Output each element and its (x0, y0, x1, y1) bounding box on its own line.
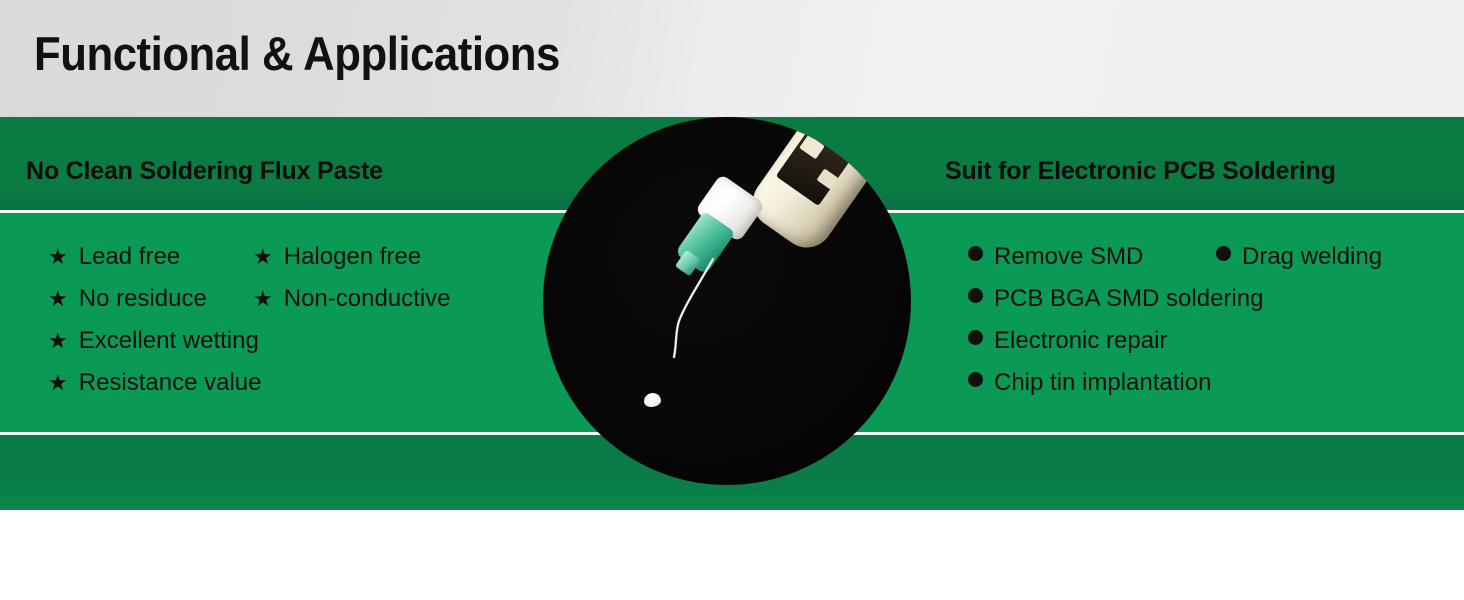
list-item-label: PCB BGA SMD soldering (994, 285, 1263, 313)
list-item: PCB BGA SMD soldering (968, 285, 1216, 313)
list-item-label: Chip tin implantation (994, 369, 1211, 397)
star-icon: ★ (48, 246, 68, 268)
list-row: Chip tin implantation (968, 369, 1428, 411)
list-item-label: Drag welding (1242, 243, 1382, 271)
product-feature-banner: Functional & Applications No Clean Solde… (0, 0, 1464, 600)
list-row: Remove SMD Drag welding (968, 243, 1428, 285)
list-row: ★ Lead free ★ Halogen free (48, 243, 518, 285)
left-panel-heading: No Clean Soldering Flux Paste (26, 157, 383, 186)
circle-bullet-icon (968, 330, 983, 345)
list-item: Drag welding (1216, 243, 1382, 271)
flux-droplet (644, 393, 661, 407)
circle-bullet-icon (1216, 246, 1231, 261)
flux-syringe-photo (543, 117, 911, 485)
list-item: ★ Excellent wetting (48, 327, 253, 355)
syringe-needle-icon (651, 257, 731, 367)
list-item: ★ Halogen free (253, 243, 421, 271)
list-item-label: Excellent wetting (79, 327, 259, 355)
list-item: ★ No residuce (48, 285, 253, 313)
list-item-label: Halogen free (284, 243, 421, 271)
list-item: Remove SMD (968, 243, 1216, 271)
list-item-label: Resistance value (79, 369, 262, 397)
list-item: Electronic repair (968, 327, 1216, 355)
star-icon: ★ (48, 372, 68, 394)
star-icon: ★ (48, 330, 68, 352)
page-title: Functional & Applications (34, 26, 560, 81)
list-item: ★ Resistance value (48, 369, 253, 397)
header-bar: Functional & Applications (0, 0, 1464, 117)
list-row: PCB BGA SMD soldering (968, 285, 1428, 327)
right-panel-heading: Suit for Electronic PCB Soldering (945, 157, 1336, 186)
circle-bullet-icon (968, 246, 983, 261)
star-icon: ★ (253, 246, 273, 268)
list-item-label: Electronic repair (994, 327, 1167, 355)
list-item-label: Non-conductive (284, 285, 451, 313)
list-row: Electronic repair (968, 327, 1428, 369)
features-list: ★ Lead free ★ Halogen free ★ No residuce… (48, 243, 518, 411)
star-icon: ★ (253, 288, 273, 310)
circle-bullet-icon (968, 372, 983, 387)
star-icon: ★ (48, 288, 68, 310)
list-item-label: Remove SMD (994, 243, 1143, 271)
circle-bullet-icon (968, 288, 983, 303)
applications-list: Remove SMD Drag welding PCB BGA SMD sold… (968, 243, 1428, 411)
list-item: Chip tin implantation (968, 369, 1216, 397)
list-item: ★ Lead free (48, 243, 253, 271)
list-row: ★ No residuce ★ Non-conductive (48, 285, 518, 327)
list-row: ★ Excellent wetting (48, 327, 518, 369)
list-item-label: Lead free (79, 243, 180, 271)
list-item-label: No residuce (79, 285, 207, 313)
list-row: ★ Resistance value (48, 369, 518, 411)
list-item: ★ Non-conductive (253, 285, 451, 313)
